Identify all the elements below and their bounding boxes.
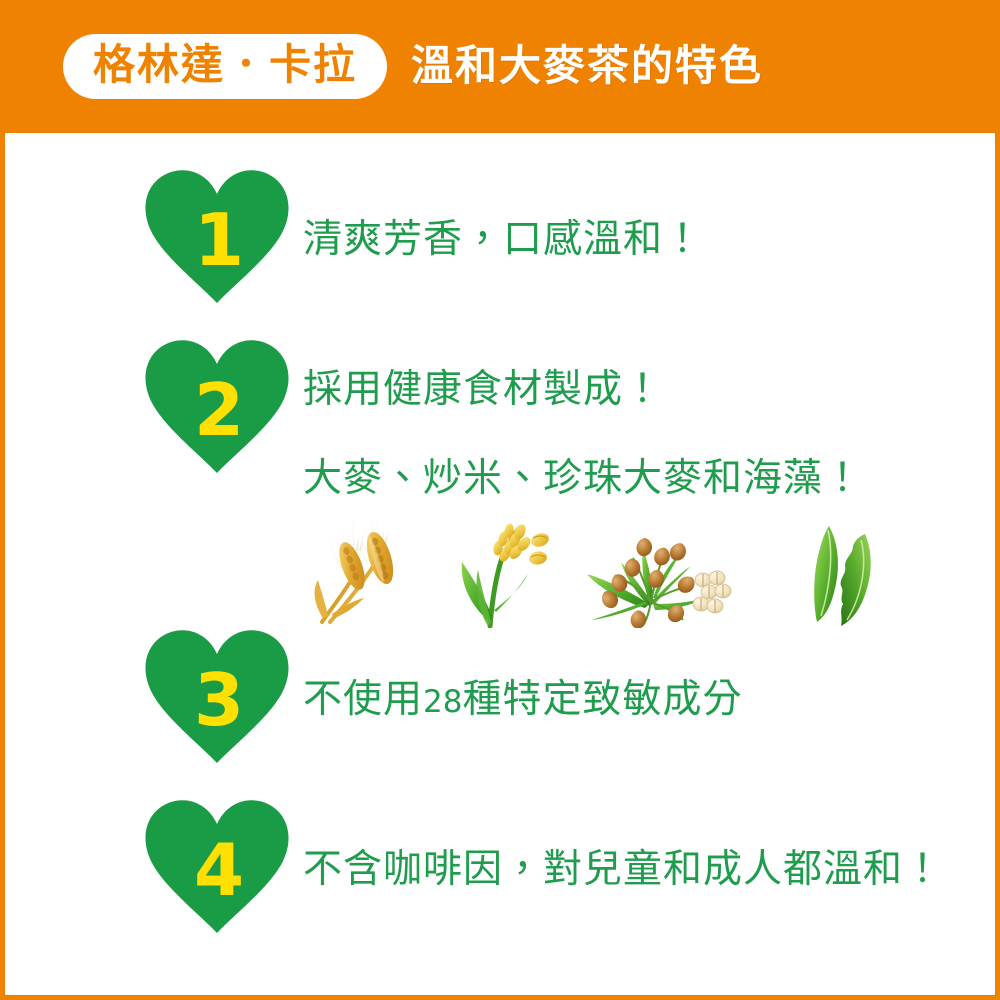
feature-badge-4: 4 — [143, 798, 303, 948]
feature-line: 採用健康食材製成！ — [303, 370, 995, 409]
feature-text-3: 不使用28種特定致敏成分 — [303, 628, 995, 719]
feature-number-2: 2 — [143, 338, 291, 476]
feature-line: 不使用28種特定致敏成分 — [303, 680, 995, 719]
feature-line: 不含咖啡因，對兒童和成人都溫和！ — [303, 850, 995, 889]
feature-line: 大麥、炒米、珍珠大麥和海藻！ — [303, 459, 995, 498]
ingredient-icon-strip: 大麥 — [303, 516, 995, 628]
feature-number-1: 1 — [143, 168, 291, 306]
page-title: 溫和大麥茶的特色 — [411, 43, 763, 89]
feature-row-1: 1 清爽芳香，口感溫和！ — [5, 168, 995, 338]
feature-line-suffix: 種特定致敏成分 — [462, 678, 742, 721]
allergen-count: 28 — [423, 684, 462, 720]
seaweed-leaves-icon: 海藻 — [801, 516, 891, 628]
feature-row-3: 3 不使用28種特定致敏成分 — [5, 628, 995, 798]
product-feature-poster: 格林達．卡拉 溫和大麥茶的特色 1 清爽芳香，口感溫和！ — [0, 0, 1000, 1000]
feature-row-4: 4 不含咖啡因，對兒童和成人都溫和！ — [5, 798, 995, 968]
brand-name-pill: 格林達．卡拉 — [63, 34, 387, 98]
feature-badge-2: 2 — [143, 338, 303, 488]
poster-header: 格林達．卡拉 溫和大麥茶的特色 — [0, 0, 1000, 133]
roasted-rice-plant-icon: 炒米 — [443, 516, 571, 628]
feature-badge-1: 1 — [143, 168, 303, 318]
feature-row-2: 2 採用健康食材製成！ 大麥、炒米、珍珠大麥和海藻！ — [5, 338, 995, 628]
feature-badge-3: 3 — [143, 628, 303, 778]
feature-text-2: 採用健康食材製成！ 大麥、炒米、珍珠大麥和海藻！ — [303, 338, 995, 628]
feature-list: 1 清爽芳香，口感溫和！ 2 採用健康食材製成！ 大麥、炒米、珍珠大麥和海藻！ — [5, 133, 995, 968]
feature-line-prefix: 不使用 — [303, 678, 423, 721]
feature-number-4: 4 — [143, 798, 291, 936]
feature-number-3: 3 — [143, 628, 291, 766]
pearl-barley-plant-icon: 珍珠大麥 — [583, 516, 733, 628]
feature-text-4: 不含咖啡因，對兒童和成人都溫和！ — [303, 798, 995, 889]
barley-ears-icon: 大麥 — [305, 516, 433, 628]
feature-text-1: 清爽芳香，口感溫和！ — [303, 168, 995, 259]
feature-line: 清爽芳香，口感溫和！ — [303, 220, 995, 259]
